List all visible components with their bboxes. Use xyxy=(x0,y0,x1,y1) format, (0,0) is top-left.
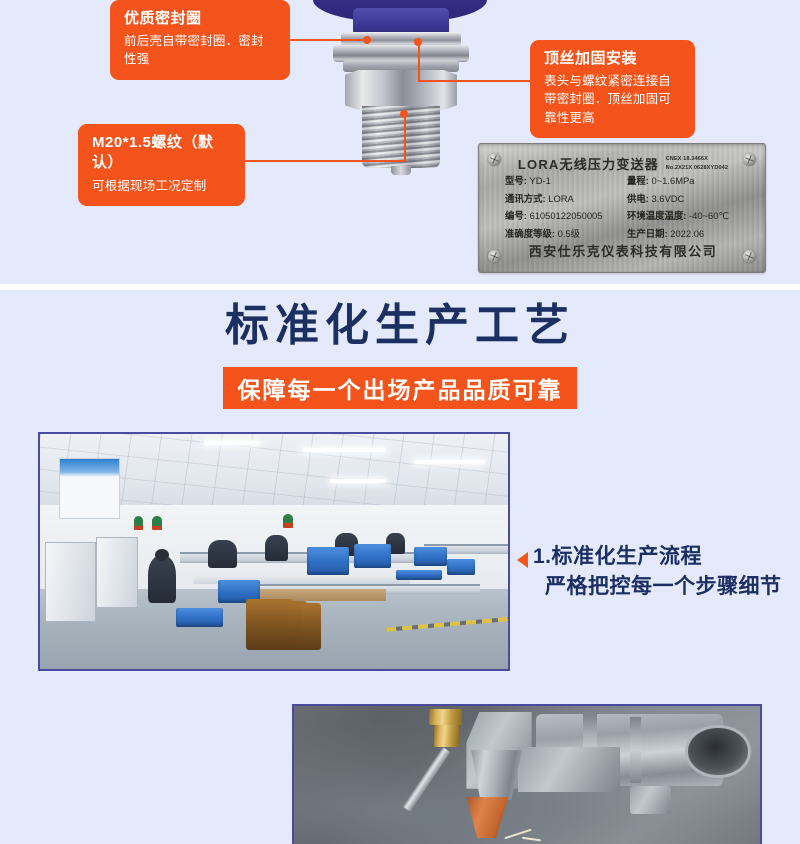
spec-model-label: 型号: xyxy=(505,175,527,186)
callout-seal-ring-title: 优质密封圈 xyxy=(124,9,276,29)
nameplate-row: 准确度等级: 0.5级 生产日期: 2022.06 xyxy=(505,227,749,241)
spec-range-label: 量程: xyxy=(627,175,649,186)
worker-head xyxy=(155,549,169,561)
ceiling-light xyxy=(204,441,260,445)
storage-cabinet xyxy=(96,537,138,608)
spec-temperature-value: -40~60℃ xyxy=(689,210,729,221)
nameplate-row: 通讯方式: LORA 供电: 3.6VDC xyxy=(505,192,749,206)
machine-bore-opening xyxy=(685,725,750,777)
callout-seal-ring-body: 前后壳自带密封圈．密封性强 xyxy=(124,32,276,68)
pressure-transmitter-device: ATHEN xyxy=(305,0,495,158)
leader-line-screw-horizontal xyxy=(418,80,530,82)
spec-production-date-label: 生产日期: xyxy=(627,228,668,239)
torch-mount xyxy=(518,747,621,791)
spec-model: 型号: YD-1 xyxy=(505,174,627,188)
callout-top-screw: 顶丝加固安装 表头与螺纹紧密连接自带密封圈．顶丝加固可靠性更高 xyxy=(530,40,695,138)
spec-production-date: 生产日期: 2022.06 xyxy=(627,227,704,241)
callout-top-screw-title: 顶丝加固安装 xyxy=(544,49,681,69)
leader-dot-screw xyxy=(414,38,422,46)
photo-factory-assembly-line xyxy=(38,432,510,671)
leader-line-thread-horizontal xyxy=(245,160,405,162)
spec-serial: 编号: 61050122050005 xyxy=(505,209,627,223)
spec-power-value: 3.6VDC xyxy=(651,193,684,204)
blue-storage-crate xyxy=(176,608,223,627)
cert-line-2: No.2X21X 0628XYD042 xyxy=(666,165,729,171)
potted-plant xyxy=(134,516,143,525)
blue-storage-crate xyxy=(447,559,475,575)
ceiling-light xyxy=(414,460,484,464)
product-detail-page: ATHEN 优质密封圈 前后壳自带密封圈．密封性强 M20*1.5螺纹（默认） xyxy=(0,0,800,844)
wall-poster xyxy=(59,458,120,519)
blue-storage-crate xyxy=(396,570,443,579)
product-nameplate: LORA无线压力变送器 CNEX 18.3466X No.2X21X 0628X… xyxy=(478,143,766,273)
spec-accuracy-label: 准确度等级: xyxy=(505,228,555,239)
triangle-pointer-icon xyxy=(517,552,528,568)
leader-line-seal xyxy=(290,39,366,41)
spec-range: 量程: 0~1.6MPa xyxy=(627,174,694,188)
callout-top-screw-body: 表头与螺纹紧密连接自带密封圈．顶丝加固可靠性更高 xyxy=(544,72,681,126)
subtitle-banner-text: 保障每一个出场产品品质可靠 xyxy=(238,371,563,405)
spec-temperature: 环境温度温度: -40~60℃ xyxy=(627,209,729,223)
storage-cabinet xyxy=(45,542,96,622)
spec-comm-label: 通讯方式: xyxy=(505,193,546,204)
leader-line-screw-vertical xyxy=(418,42,420,81)
callout-thread-spec-body: 可根据现场工况定制 xyxy=(92,177,231,195)
spec-range-value: 0~1.6MPa xyxy=(651,175,694,186)
spec-power: 供电: 3.6VDC xyxy=(627,192,684,206)
callout-seal-ring: 优质密封圈 前后壳自带密封圈．密封性强 xyxy=(110,0,290,80)
ceiling-light xyxy=(302,448,386,452)
device-collar xyxy=(353,8,449,34)
photo-welding-process xyxy=(292,704,762,844)
nameplate-row: 型号: YD-1 量程: 0~1.6MPa xyxy=(505,174,749,188)
subtitle-banner: 保障每一个出场产品品质可靠 xyxy=(223,367,577,409)
brass-nozzle-upper xyxy=(429,709,462,726)
spec-serial-label: 编号: xyxy=(505,210,527,221)
cable-spool xyxy=(302,603,321,650)
nameplate-company-name: 西安仕乐克仪表科技有限公司 xyxy=(479,241,767,260)
factory-photo-caption: 1.标准化生产流程 严格把控每一个步骤细节 xyxy=(517,543,792,603)
ceiling-light xyxy=(330,479,386,483)
spec-comm: 通讯方式: LORA xyxy=(505,192,627,206)
spec-model-value: YD-1 xyxy=(529,175,550,186)
spec-production-date-value: 2022.06 xyxy=(670,228,704,239)
spec-comm-value: LORA xyxy=(548,193,574,204)
spec-accuracy: 准确度等级: 0.5级 xyxy=(505,227,627,241)
machine-ring xyxy=(630,717,642,783)
spec-temperature-label: 环境温度温度: xyxy=(627,210,686,221)
cert-line-1: CNEX 18.3466X xyxy=(666,156,708,162)
caption-line-2: 严格把控每一个步骤细节 xyxy=(545,571,792,603)
callout-thread-spec-title: M20*1.5螺纹（默认） xyxy=(92,133,231,174)
nameplate-row: 编号: 61050122050005 环境温度温度: -40~60℃ xyxy=(505,209,749,223)
factory-worker xyxy=(265,535,288,561)
leader-dot-thread xyxy=(400,110,408,118)
leader-line-thread-vertical xyxy=(404,112,406,161)
nameplate-spec-grid: 型号: YD-1 量程: 0~1.6MPa 通讯方式: LORA 供电: xyxy=(505,174,749,244)
leader-dot-seal xyxy=(363,36,371,44)
device-hex-nut xyxy=(345,70,457,110)
nameplate-certification: CNEX 18.3466X No.2X21X 0628XYD042 xyxy=(666,155,729,172)
spec-power-label: 供电: xyxy=(627,193,649,204)
nameplate-header: LORA无线压力变送器 CNEX 18.3466X No.2X21X 0628X… xyxy=(479,154,767,173)
potted-plant xyxy=(152,516,161,525)
blue-storage-crate xyxy=(354,544,391,568)
brass-nozzle-lower xyxy=(434,725,460,747)
factory-worker xyxy=(208,540,236,568)
factory-worker xyxy=(148,556,176,603)
device-pressure-port xyxy=(391,166,411,175)
caption-line-1: 1.标准化生产流程 xyxy=(533,543,792,571)
product-callout-section: ATHEN 优质密封圈 前后壳自带密封圈．密封性强 M20*1.5螺纹（默认） xyxy=(0,0,800,284)
page-title: 标准化生产工艺 xyxy=(0,298,800,353)
nameplate-title: LORA无线压力变送器 xyxy=(518,154,659,173)
spec-serial-value: 61050122050005 xyxy=(529,210,602,221)
blue-storage-crate xyxy=(307,547,349,575)
spec-accuracy-value: 0.5级 xyxy=(558,228,580,239)
blue-storage-crate xyxy=(414,547,447,566)
callout-thread-spec: M20*1.5螺纹（默认） 可根据现场工况定制 xyxy=(78,124,245,206)
clamp-bracket xyxy=(630,786,672,814)
potted-plant xyxy=(283,514,292,523)
standardized-production-section: 标准化生产工艺 保障每一个出场产品品质可靠 xyxy=(0,290,800,844)
